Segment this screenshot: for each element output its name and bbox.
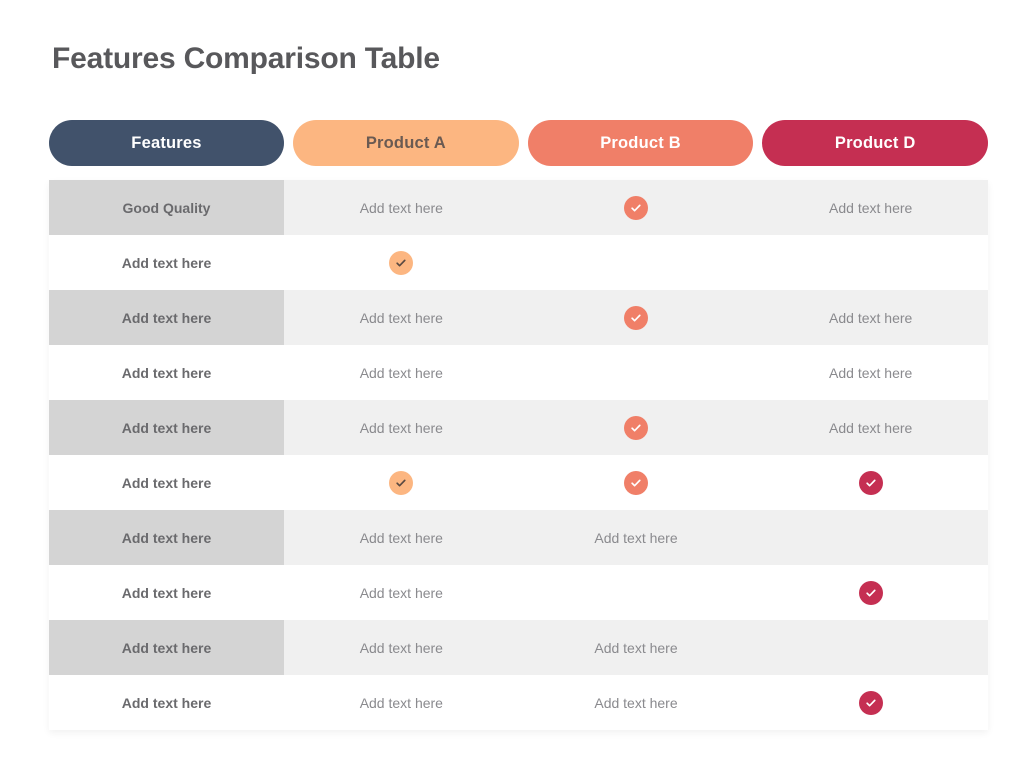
cell-text-product-d: Add text here xyxy=(753,400,988,455)
feature-name-cell: Add text here xyxy=(49,620,284,675)
table-row: Add text here xyxy=(49,455,988,510)
cell-text-product-a: Add text here xyxy=(284,675,519,730)
table-row: Add text hereAdd text hereAdd text here xyxy=(49,290,988,345)
check-circle-icon xyxy=(859,471,883,495)
cell-check-product-b xyxy=(519,180,754,235)
feature-name-cell: Add text here xyxy=(49,565,284,620)
cell-text-product-b: Add text here xyxy=(519,510,754,565)
feature-name-cell: Add text here xyxy=(49,235,284,290)
cell-text-product-d: Add text here xyxy=(753,345,988,400)
feature-name-cell: Add text here xyxy=(49,455,284,510)
cell-check-product-b xyxy=(519,455,754,510)
table-row: Add text hereAdd text hereAdd text here xyxy=(49,400,988,455)
table-row: Add text here xyxy=(49,235,988,290)
cell-text-product-a: Add text here xyxy=(284,620,519,675)
feature-name-cell: Add text here xyxy=(49,290,284,345)
cell-check-product-a xyxy=(284,235,519,290)
cell-text-product-a: Add text here xyxy=(284,180,519,235)
table-body: Good QualityAdd text hereAdd text hereAd… xyxy=(49,180,988,730)
column-header-product-d[interactable]: Product D xyxy=(762,120,988,166)
cell-text-product-a: Add text here xyxy=(284,510,519,565)
check-circle-icon xyxy=(624,196,648,220)
table-row: Add text hereAdd text here xyxy=(49,565,988,620)
feature-name-cell: Add text here xyxy=(49,675,284,730)
check-circle-icon xyxy=(389,251,413,275)
check-circle-icon xyxy=(624,306,648,330)
table-row: Add text hereAdd text hereAdd text here xyxy=(49,510,988,565)
check-circle-icon xyxy=(859,691,883,715)
cell-check-product-d xyxy=(753,565,988,620)
cell-text-product-a: Add text here xyxy=(284,400,519,455)
cell-check-product-a xyxy=(284,455,519,510)
check-circle-icon xyxy=(389,471,413,495)
feature-name-cell: Good Quality xyxy=(49,180,284,235)
cell-text-product-b: Add text here xyxy=(519,675,754,730)
check-circle-icon xyxy=(859,581,883,605)
feature-name-cell: Add text here xyxy=(49,400,284,455)
cell-text-product-b: Add text here xyxy=(519,620,754,675)
cell-text-product-a: Add text here xyxy=(284,290,519,345)
cell-check-product-b xyxy=(519,290,754,345)
table-row: Good QualityAdd text hereAdd text here xyxy=(49,180,988,235)
feature-name-cell: Add text here xyxy=(49,510,284,565)
cell-text-product-a: Add text here xyxy=(284,565,519,620)
table-row: Add text hereAdd text hereAdd text here xyxy=(49,675,988,730)
table-header-row: FeaturesProduct AProduct BProduct D xyxy=(49,120,988,166)
cell-check-product-d xyxy=(753,455,988,510)
feature-name-cell: Add text here xyxy=(49,345,284,400)
column-header-product-a[interactable]: Product A xyxy=(293,120,519,166)
cell-text-product-d: Add text here xyxy=(753,290,988,345)
cell-text-product-d: Add text here xyxy=(753,180,988,235)
comparison-table: FeaturesProduct AProduct BProduct D Good… xyxy=(49,120,988,730)
check-circle-icon xyxy=(624,471,648,495)
check-circle-icon xyxy=(624,416,648,440)
table-row: Add text hereAdd text hereAdd text here xyxy=(49,620,988,675)
cell-check-product-b xyxy=(519,400,754,455)
page-title: Features Comparison Table xyxy=(52,42,440,76)
cell-check-product-d xyxy=(753,675,988,730)
column-header-product-b[interactable]: Product B xyxy=(528,120,754,166)
table-row: Add text hereAdd text hereAdd text here xyxy=(49,345,988,400)
cell-text-product-a: Add text here xyxy=(284,345,519,400)
column-header-features[interactable]: Features xyxy=(49,120,284,166)
